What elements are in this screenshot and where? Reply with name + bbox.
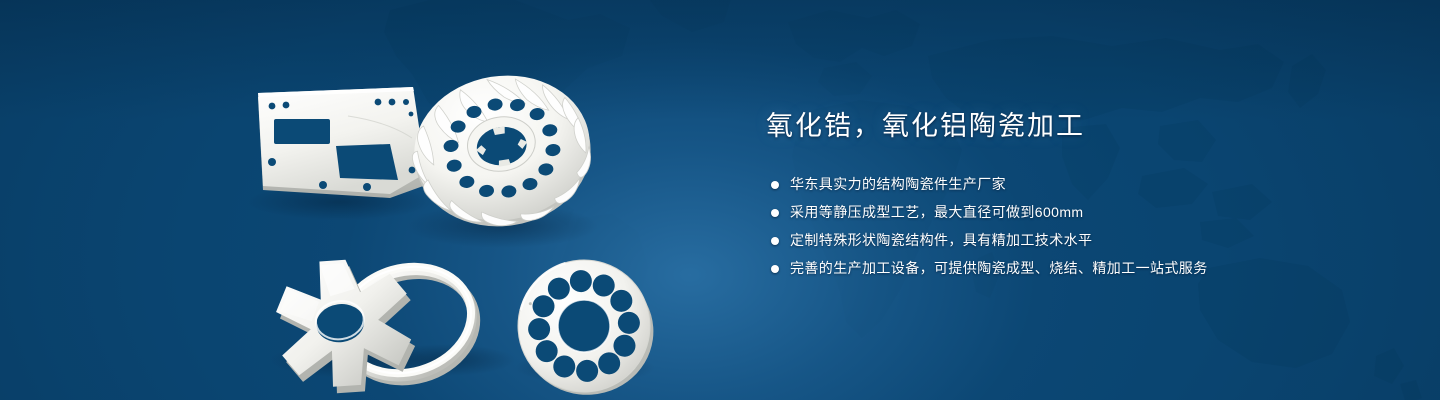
list-item-label: 华东具实力的结构陶瓷件生产厂家 (790, 174, 1006, 195)
ceramic-products-image (230, 30, 710, 380)
ceramic-plate-part (258, 87, 426, 198)
list-item: 完善的生产加工设备，可提供陶瓷成型、烧结、精加工一站式服务 (771, 258, 1386, 279)
feature-list: 华东具实力的结构陶瓷件生产厂家 采用等静压成型工艺，最大直径可做到600mm 定… (771, 174, 1386, 279)
list-item-label: 采用等静压成型工艺，最大直径可做到600mm (790, 202, 1083, 223)
list-item-label: 定制特殊形状陶瓷结构件，具有精加工技术水平 (790, 230, 1092, 251)
list-item-label: 完善的生产加工设备，可提供陶瓷成型、烧结、精加工一站式服务 (790, 258, 1208, 279)
page-title: 氧化锆，氧化铝陶瓷加工 (766, 108, 1386, 144)
list-item: 采用等静压成型工艺，最大直径可做到600mm (771, 202, 1386, 223)
list-item: 定制特殊形状陶瓷结构件，具有精加工技术水平 (771, 230, 1386, 251)
bullet-dot-icon (771, 237, 779, 245)
bullet-dot-icon (771, 181, 779, 189)
bullet-dot-icon (771, 265, 779, 273)
banner-copy: 氧化锆，氧化铝陶瓷加工 华东具实力的结构陶瓷件生产厂家 采用等静压成型工艺，最大… (766, 108, 1386, 279)
hero-banner: 氧化锆，氧化铝陶瓷加工 华东具实力的结构陶瓷件生产厂家 采用等静压成型工艺，最大… (0, 0, 1440, 400)
list-item: 华东具实力的结构陶瓷件生产厂家 (771, 174, 1386, 195)
bullet-dot-icon (771, 209, 779, 217)
